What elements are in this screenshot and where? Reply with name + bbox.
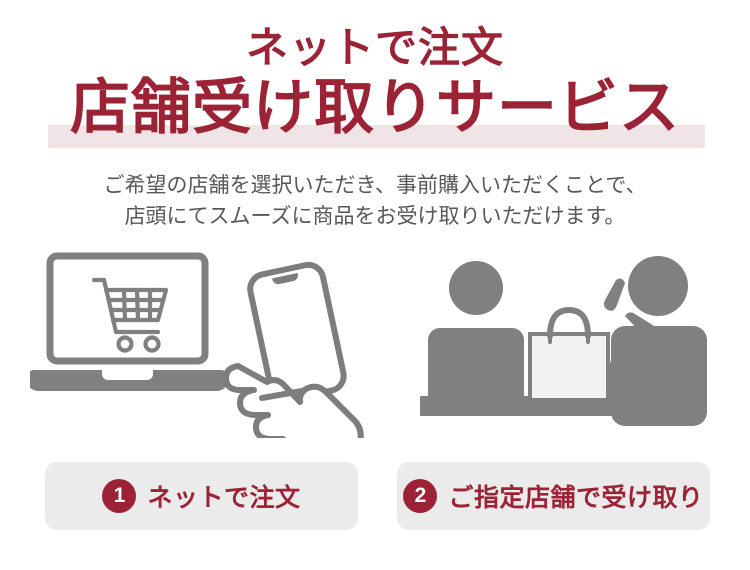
headline-line-2: 店舗受け取りサービス (0, 73, 750, 143)
step-card-1[interactable]: 1 ネットで注文 (45, 462, 358, 530)
step-card-2[interactable]: 2 ご指定店舗で受け取り (397, 462, 710, 530)
hand-holding-smartphone-icon (226, 262, 361, 438)
description-line-2: 店頭にてスムーズに商品をお受け取りいただけます。 (0, 201, 750, 232)
description-line-1: ご希望の店舗を選択いただき、事前購入いただくことで、 (0, 170, 750, 201)
laptop-with-shopping-cart-icon (30, 256, 228, 391)
step-card-row: 1 ネットで注文 2 ご指定店舗で受け取り (0, 462, 750, 532)
online-order-illustration (30, 248, 380, 438)
illustration-row (0, 248, 750, 448)
step-label-2: ご指定店舗で受け取り (448, 478, 703, 514)
store-pickup-illustration (420, 248, 730, 438)
shopping-bag-icon (530, 310, 608, 400)
store-pickup-service-banner: ネットで注文 店舗受け取りサービス ご希望の店舗を選択いただき、事前購入いただく… (0, 0, 750, 570)
description-text: ご希望の店舗を選択いただき、事前購入いただくことで、 店頭にてスムーズに商品をお… (0, 170, 750, 232)
headline-block: ネットで注文 店舗受け取りサービス (0, 0, 750, 160)
step-number-badge-2: 2 (403, 479, 437, 513)
headline-line-1: ネットで注文 (0, 22, 750, 74)
step-label-1: ネットで注文 (147, 478, 300, 514)
step-number-badge-1: 1 (102, 479, 136, 513)
